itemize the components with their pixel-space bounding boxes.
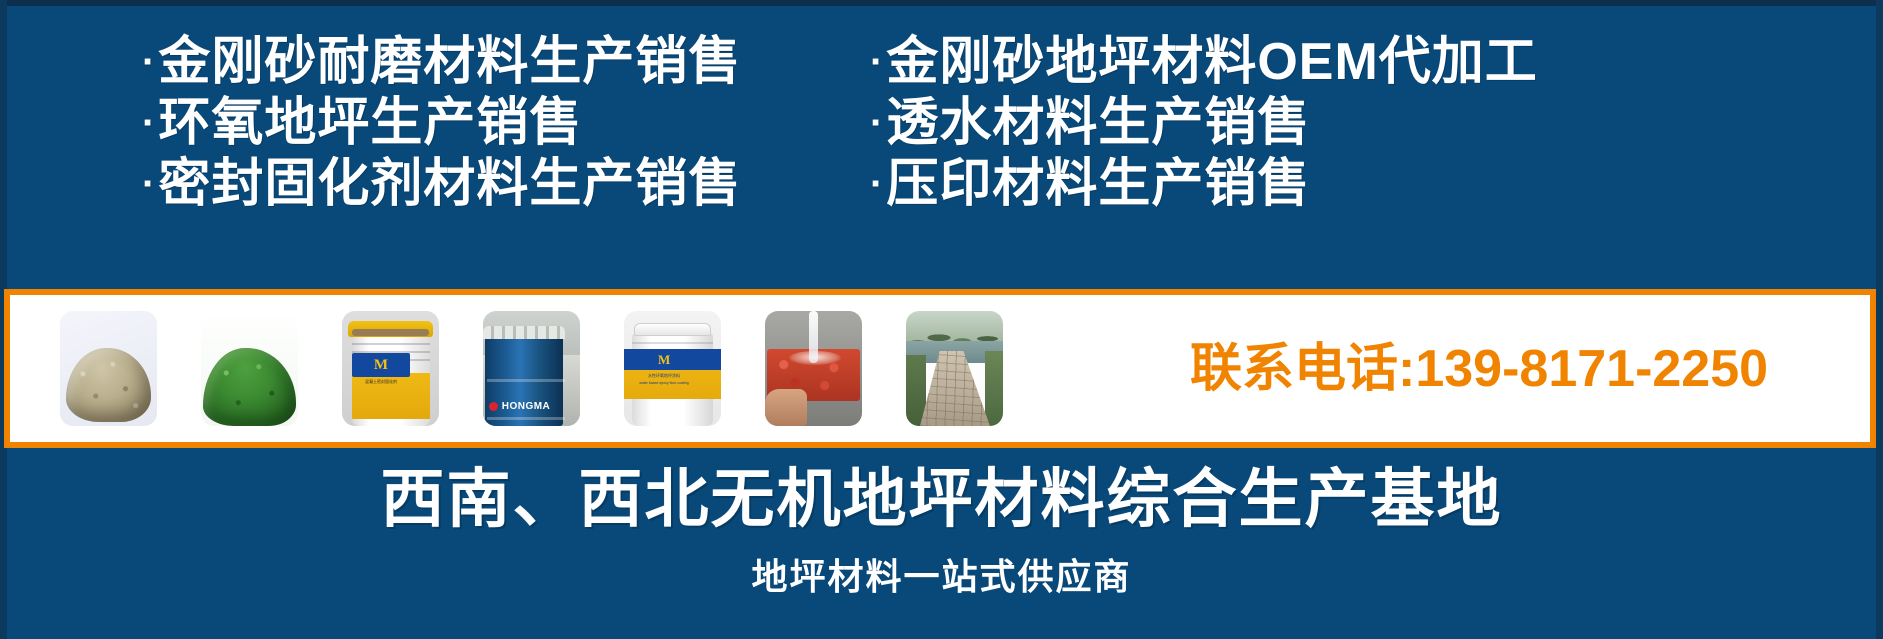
service-label: 金刚砂地坪材料OEM代加工 (886, 34, 1537, 91)
epoxy-pail-thumbnail: M 水性环氧地坪涂料 water based epoxy floor coati… (624, 311, 721, 426)
sealer-pail-thumbnail: M 混凝土密封固化剂 (342, 311, 439, 426)
service-item: · 密封固化剂材料生产销售 (142, 156, 860, 217)
brand-mark-m: M (374, 357, 388, 374)
permeable-concrete-thumbnail (765, 311, 862, 426)
service-label: 金刚砂耐磨材料生产销售 (158, 34, 741, 91)
services-section: · 金刚砂耐磨材料生产销售 · 环氧地坪生产销售 · 密封固化剂材料生产销售 ·… (0, 34, 1883, 234)
service-label: 环氧地坪生产销售 (158, 95, 582, 152)
service-item: · 压印材料生产销售 (870, 156, 1883, 217)
service-item: · 金刚砂地坪材料OEM代加工 (870, 34, 1883, 95)
product-thumbnail-strip: M 混凝土密封固化剂 HONGMA (10, 311, 1003, 426)
pail-label-line1: 水性环氧地坪涂料 (630, 373, 698, 378)
pail-label-line2: water based epoxy floor coating (630, 381, 698, 385)
top-edge-strip (0, 0, 1883, 6)
services-right-column: · 金刚砂地坪材料OEM代加工 · 透水材料生产销售 · 压印材料生产销售 (860, 34, 1883, 234)
bullet-icon: · (142, 156, 156, 213)
service-item: · 透水材料生产销售 (870, 95, 1883, 156)
service-label: 密封固化剂材料生产销售 (158, 156, 741, 213)
bullet-icon: · (142, 34, 156, 91)
bullet-icon: · (870, 95, 884, 152)
footer-headline: 西南、西北无机地坪材料综合生产基地 (0, 462, 1883, 536)
emery-powder-thumbnail (60, 311, 157, 426)
service-item: · 金刚砂耐磨材料生产销售 (142, 34, 860, 95)
green-powder-thumbnail (201, 311, 298, 426)
bullet-icon: · (142, 95, 156, 152)
service-label: 压印材料生产销售 (886, 156, 1310, 213)
service-label: 透水材料生产销售 (886, 95, 1310, 152)
services-left-column: · 金刚砂耐磨材料生产销售 · 环氧地坪生产销售 · 密封固化剂材料生产销售 (0, 34, 860, 234)
brand-mark-m: M (658, 352, 670, 368)
stamped-pavement-thumbnail (906, 311, 1003, 426)
footer-subline: 地坪材料一站式供应商 (0, 555, 1883, 599)
service-item: · 环氧地坪生产销售 (142, 95, 860, 156)
bullet-icon: · (870, 156, 884, 213)
drum-brand-text: HONGMA (489, 401, 563, 412)
pail-label-text: 混凝土密封固化剂 (350, 379, 412, 384)
hongma-drum-thumbnail: HONGMA (483, 311, 580, 426)
contact-phone[interactable]: 联系电话:139-8171-2250 (1190, 340, 1768, 398)
bullet-icon: · (870, 34, 884, 91)
promo-banner: · 金刚砂耐磨材料生产销售 · 环氧地坪生产销售 · 密封固化剂材料生产销售 ·… (0, 0, 1883, 639)
